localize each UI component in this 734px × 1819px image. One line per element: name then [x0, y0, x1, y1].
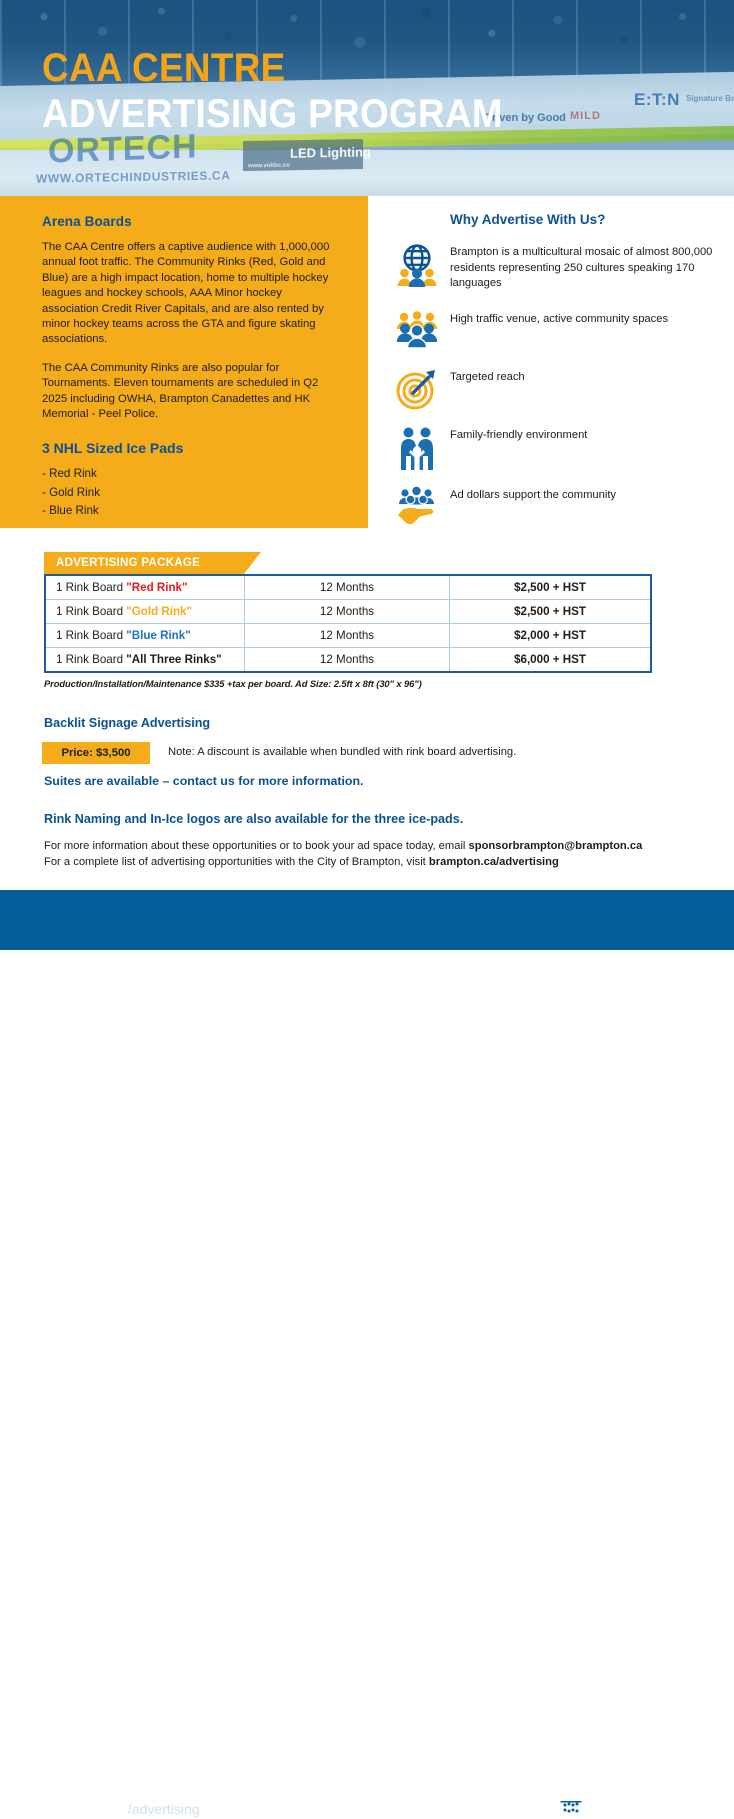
contact-block: For more information about these opportu… — [44, 838, 642, 871]
price-badge-label: Price: $3,500 — [61, 747, 130, 759]
cell-term: 12 Months — [245, 575, 450, 600]
why-advertise-section: Why Advertise With Us? — [396, 212, 726, 538]
row-rink-name: "Gold Rink" — [126, 605, 192, 618]
cell-price: $2,500 + HST — [450, 575, 652, 600]
table-row: 1 Rink Board "All Three Rinks" 12 Months… — [45, 648, 651, 673]
contact-line-1: For more information about these opportu… — [44, 838, 642, 854]
price-badge: Price: $3,500 — [42, 742, 150, 764]
rink-list-item: - Gold Rink — [42, 484, 338, 502]
tab-notch — [244, 552, 261, 574]
footer-url-domain: brampton.ca — [44, 1801, 128, 1817]
row-prefix: 1 Rink Board — [56, 629, 126, 642]
why-item: Targeted reach — [396, 366, 726, 410]
table-fineprint: Production/Installation/Maintenance $335… — [44, 678, 422, 689]
contact-line-2: For a complete list of advertising oppor… — [44, 854, 642, 870]
title-line-1: CAA CENTRE — [42, 48, 503, 88]
row-prefix: 1 Rink Board — [56, 653, 126, 666]
table-row: 1 Rink Board "Blue Rink" 12 Months $2,00… — [45, 624, 651, 648]
cell-package: 1 Rink Board "Gold Rink" — [45, 600, 245, 624]
ice-pads-heading: 3 NHL Sized Ice Pads — [42, 440, 338, 456]
row-prefix: 1 Rink Board — [56, 581, 126, 594]
why-item-text: High traffic venue, active community spa… — [450, 308, 668, 328]
contact-email[interactable]: sponsorbrampton@brampton.ca — [469, 840, 643, 852]
cell-package: 1 Rink Board "All Three Rinks" — [45, 648, 245, 673]
why-item: High traffic venue, active community spa… — [396, 308, 726, 352]
board-ad-mild: MILD — [570, 110, 601, 122]
contact-line-1-text: For more information about these opportu… — [44, 840, 469, 852]
backlit-heading: Backlit Signage Advertising — [44, 716, 210, 730]
arena-boards-panel: Arena Boards The CAA Centre offers a cap… — [0, 196, 368, 528]
why-item: Brampton is a multicultural mosaic of al… — [396, 241, 726, 292]
advertising-flyer-page: ORTECH WWW.ORTECHINDUSTRIES.CA LED Light… — [0, 0, 734, 950]
why-item: Family-friendly environment — [396, 424, 726, 470]
title-line-2: ADVERTISING PROGRAM — [42, 94, 503, 134]
row-rink-name: "All Three Rinks" — [126, 653, 221, 666]
why-advertise-heading: Why Advertise With Us? — [450, 212, 726, 227]
suites-note: Suites are available – contact us for mo… — [44, 774, 364, 788]
backlit-note: Note: A discount is available when bundl… — [168, 746, 516, 758]
board-ad-misc: Signature Bank — [686, 94, 734, 103]
board-ad-eaton: E:T:N — [634, 90, 680, 110]
footer-url[interactable]: brampton.ca/advertising — [44, 1801, 200, 1817]
row-rink-name: "Red Rink" — [126, 581, 187, 594]
contact-website[interactable]: brampton.ca/advertising — [429, 856, 559, 868]
cell-price: $6,000 + HST — [450, 648, 652, 673]
brampton-wordmark: BRAMPTON — [588, 1799, 683, 1819]
globe-people-icon — [396, 241, 450, 287]
arena-paragraph-2: The CAA Community Rinks are also popular… — [42, 361, 338, 423]
cell-package: 1 Rink Board "Blue Rink" — [45, 624, 245, 648]
table-row: 1 Rink Board "Red Rink" 12 Months $2,500… — [45, 575, 651, 600]
rink-list-item: - Blue Rink — [42, 502, 338, 520]
footer-bar: brampton.ca/advertising BRAMPTON — [0, 890, 734, 950]
brampton-flower-mark — [560, 1798, 582, 1819]
board-ad-led-url: www.voltbc.co — [248, 163, 290, 170]
rink-naming-heading: Rink Naming and In-Ice logos are also av… — [44, 812, 463, 826]
advertising-package-table: ADVERTISING PACKAGE 1 Rink Board "Red Ri… — [44, 552, 652, 673]
row-prefix: 1 Rink Board — [56, 605, 126, 618]
target-arrow-icon — [396, 366, 450, 410]
cell-term: 12 Months — [245, 600, 450, 624]
hand-community-icon — [396, 484, 450, 530]
why-item-text: Family-friendly environment — [450, 424, 587, 444]
footer-url-path: /advertising — [128, 1801, 200, 1817]
table-tab-label: ADVERTISING PACKAGE — [56, 557, 200, 569]
row-rink-name: "Blue Rink" — [126, 629, 190, 642]
rink-list-item: - Red Rink — [42, 465, 338, 483]
contact-line-2-text: For a complete list of advertising oppor… — [44, 856, 429, 868]
why-item-text: Brampton is a multicultural mosaic of al… — [450, 241, 726, 292]
arena-boards-heading: Arena Boards — [42, 214, 338, 229]
table-tab-header: ADVERTISING PACKAGE — [44, 552, 244, 574]
crowd-icon — [396, 308, 450, 350]
cell-price: $2,000 + HST — [450, 624, 652, 648]
cell-package: 1 Rink Board "Red Rink" — [45, 575, 245, 600]
table-row: 1 Rink Board "Gold Rink" 12 Months $2,50… — [45, 600, 651, 624]
cell-price: $2,500 + HST — [450, 600, 652, 624]
hero-banner: ORTECH WWW.ORTECHINDUSTRIES.CA LED Light… — [0, 0, 734, 196]
page-title: CAA CENTRE ADVERTISING PROGRAM — [42, 48, 543, 134]
why-item-text: Ad dollars support the community — [450, 484, 616, 504]
board-ad-led-label: LED Lighting — [290, 144, 371, 160]
arena-paragraph-1: The CAA Centre offers a captive audience… — [42, 240, 338, 348]
price-table: 1 Rink Board "Red Rink" 12 Months $2,500… — [44, 574, 652, 673]
cell-term: 12 Months — [245, 648, 450, 673]
why-item-text: Targeted reach — [450, 366, 525, 386]
why-item: Ad dollars support the community — [396, 484, 726, 530]
family-icon — [396, 424, 450, 470]
brampton-logo: BRAMPTON — [560, 1798, 688, 1819]
cell-term: 12 Months — [245, 624, 450, 648]
